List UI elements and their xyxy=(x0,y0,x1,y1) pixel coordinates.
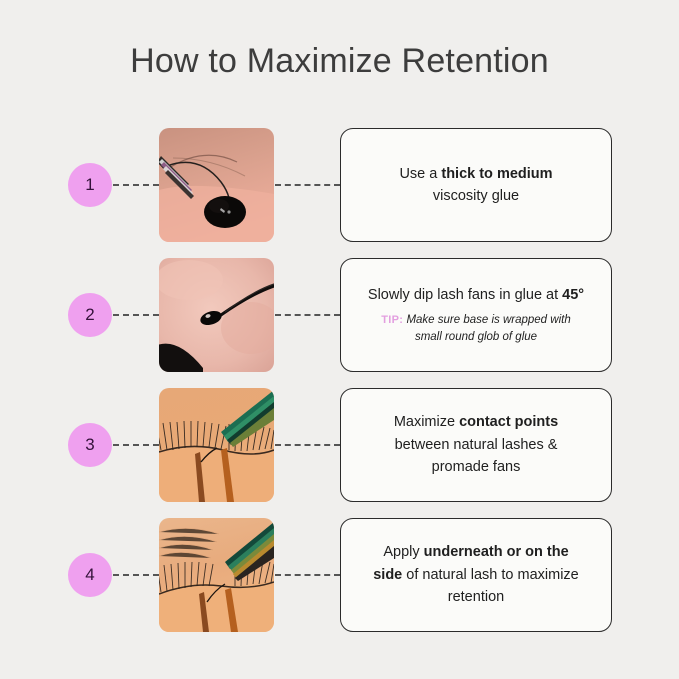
infographic-root: How to Maximize Retention 1 xyxy=(0,0,679,679)
connector-dashed-left xyxy=(113,444,159,446)
connector-dashed-right xyxy=(275,314,340,316)
step-text: Slowly dip lash fans in glue at 45° xyxy=(368,284,584,306)
step-tip: TIP: Make sure base is wrapped with smal… xyxy=(381,312,570,346)
step-text-line2: viscosity glue xyxy=(433,188,519,204)
step-text-bold: 45° xyxy=(562,287,584,303)
step-text-bold: contact points xyxy=(459,414,558,430)
step-row: 4 xyxy=(0,518,679,632)
step-text: Maximize contact points between natural … xyxy=(394,411,558,478)
step-text-line2-bold: side xyxy=(373,567,402,583)
connector-dashed-right xyxy=(275,444,340,446)
step-text-lead: Use a xyxy=(399,166,441,182)
page-title: How to Maximize Retention xyxy=(0,42,679,81)
step-number-label: 3 xyxy=(85,435,94,455)
step-text-bold: underneath or on the xyxy=(424,544,569,560)
step-text: Use a thick to medium viscosity glue xyxy=(399,163,552,208)
step-number-badge: 4 xyxy=(68,553,112,597)
connector-dashed-left xyxy=(113,574,159,576)
step-number-badge: 3 xyxy=(68,423,112,467)
step-text-lead: Apply xyxy=(383,544,423,560)
step-photo xyxy=(159,258,274,372)
step-photo xyxy=(159,518,274,632)
step-text-line3: promade fans xyxy=(432,459,521,475)
step-text-lead: Slowly dip lash fans in glue at xyxy=(368,287,562,303)
connector-dashed-left xyxy=(113,184,159,186)
connector-dashed-right xyxy=(275,184,340,186)
steps-list: 1 xyxy=(0,128,679,648)
step-row: 1 xyxy=(0,128,679,242)
step-number-badge: 1 xyxy=(68,163,112,207)
step-number-label: 1 xyxy=(85,175,94,195)
step-text-card: Slowly dip lash fans in glue at 45° TIP:… xyxy=(340,258,612,372)
step-number-label: 2 xyxy=(85,305,94,325)
step-text-line2: between natural lashes & xyxy=(395,437,558,453)
connector-dashed-right xyxy=(275,574,340,576)
tip-line2: small round glob of glue xyxy=(415,331,537,343)
step-text-card: Apply underneath or on the side of natur… xyxy=(340,518,612,632)
step-text-lead: Maximize xyxy=(394,414,459,430)
step-row: 3 xyxy=(0,388,679,502)
step-text-card: Use a thick to medium viscosity glue xyxy=(340,128,612,242)
step-text-line3: retention xyxy=(448,589,504,605)
step-text-bold: thick to medium xyxy=(441,166,552,182)
connector-dashed-left xyxy=(113,314,159,316)
tip-line1: Make sure base is wrapped with xyxy=(406,314,570,326)
step-text-card: Maximize contact points between natural … xyxy=(340,388,612,502)
step-row: 2 xyxy=(0,258,679,372)
step-photo xyxy=(159,388,274,502)
tip-label: TIP: xyxy=(381,314,403,326)
step-photo xyxy=(159,128,274,242)
step-text: Apply underneath or on the side of natur… xyxy=(373,541,579,608)
step-text-line2: of natural lash to maximize xyxy=(402,567,579,583)
step-number-badge: 2 xyxy=(68,293,112,337)
step-number-label: 4 xyxy=(85,565,94,585)
